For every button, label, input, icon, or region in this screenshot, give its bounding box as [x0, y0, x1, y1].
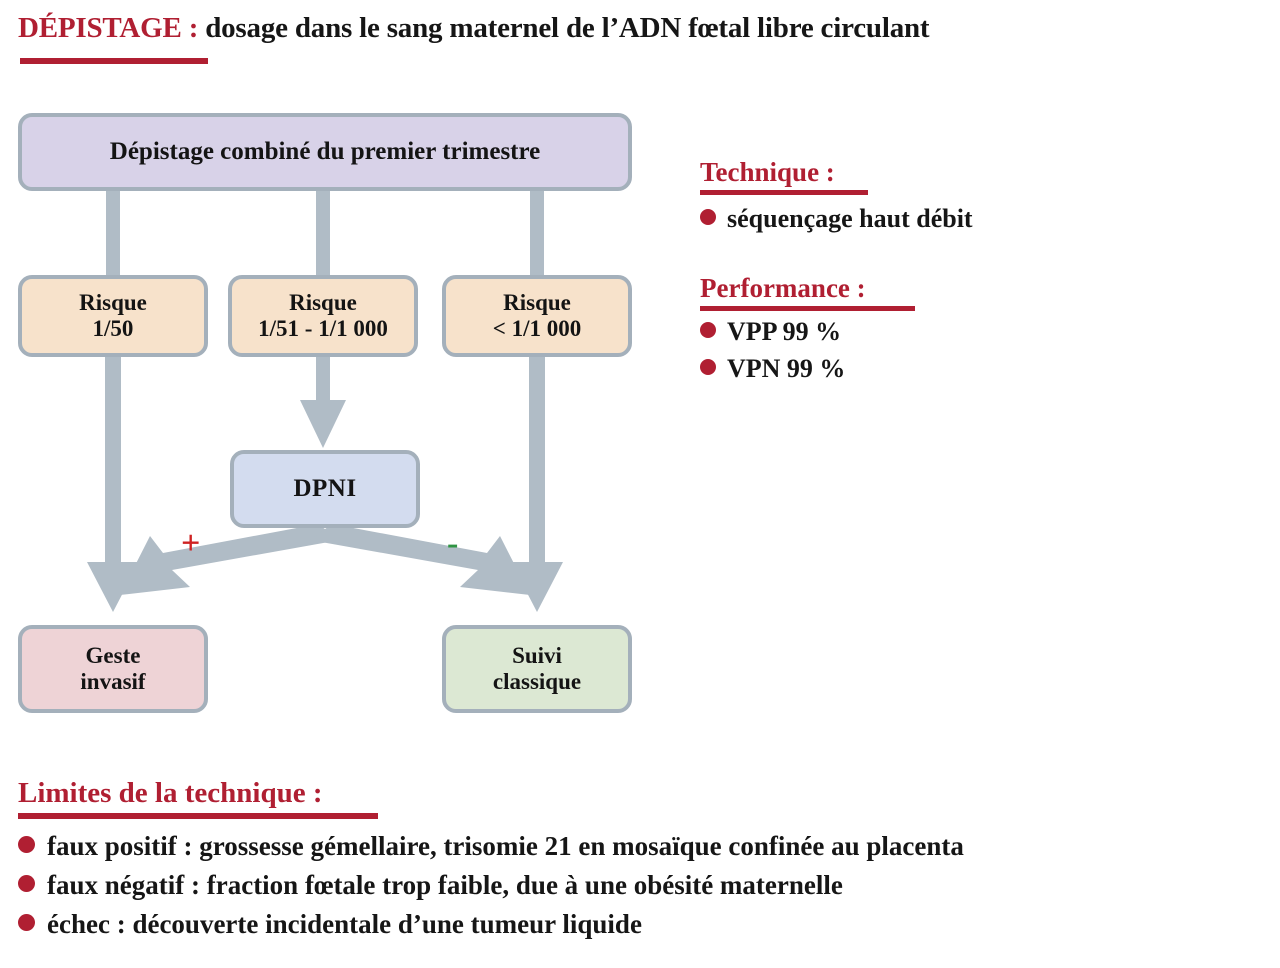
- performance-heading: Performance :: [700, 274, 1260, 304]
- bullet-dot-icon: [700, 359, 716, 375]
- node-risque-haut[interactable]: Risque 1/50: [18, 275, 208, 357]
- info-panel: Technique : séquençage haut débit Perfor…: [700, 158, 1260, 384]
- bullet-dot-icon: [700, 209, 716, 225]
- limits-heading: Limites de la technique :: [18, 778, 1268, 810]
- node-geste-invasif[interactable]: Geste invasif: [18, 625, 208, 713]
- technique-heading: Technique :: [700, 158, 1260, 188]
- limits-section: Limites de la technique : faux positif :…: [18, 778, 1268, 940]
- node-risque-bas-line1: Risque: [493, 290, 582, 316]
- negative-sign-label: -: [447, 527, 458, 561]
- limits-underline: [18, 813, 378, 819]
- node-suivi-line1: Suivi: [493, 643, 581, 669]
- list-item: échec : découverte incidentale d’une tum…: [18, 909, 1268, 941]
- connector-depistage-to-risque-haut: [106, 191, 120, 277]
- node-depistage-combine[interactable]: Dépistage combiné du premier trimestre: [18, 113, 632, 191]
- technique-item-text: séquençage haut débit: [727, 204, 973, 235]
- limits-item-echec: échec : découverte incidentale d’une tum…: [47, 909, 642, 941]
- performance-item-vpn: VPN 99 %: [727, 354, 845, 385]
- technique-list: séquençage haut débit: [700, 204, 1260, 235]
- positive-sign-label: +: [181, 527, 200, 561]
- performance-section: Performance : VPP 99 % VPN 99 %: [700, 274, 1260, 384]
- connector-depistage-to-risque-bas: [530, 191, 544, 277]
- node-risque-intermediaire[interactable]: Risque 1/51 - 1/1 000: [228, 275, 418, 357]
- node-risque-bas[interactable]: Risque < 1/1 000: [442, 275, 632, 357]
- title-underline: [20, 58, 208, 64]
- title-description: dosage dans le sang maternel de l’ADN fœ…: [198, 12, 929, 44]
- bullet-dot-icon: [700, 322, 716, 338]
- title-line: DÉPISTAGE : dosage dans le sang maternel…: [18, 12, 1258, 45]
- performance-list: VPP 99 % VPN 99 %: [700, 317, 1260, 384]
- title-keyword: DÉPISTAGE :: [18, 12, 198, 44]
- bullet-dot-icon: [18, 914, 35, 931]
- bullet-dot-icon: [18, 875, 35, 892]
- node-suivi-classique[interactable]: Suivi classique: [442, 625, 632, 713]
- limits-item-faux-negatif: faux négatif : fraction fœtale trop faib…: [47, 870, 843, 902]
- node-risque-haut-line1: Risque: [79, 290, 147, 316]
- list-item: VPP 99 %: [700, 317, 1260, 348]
- node-depistage-label: Dépistage combiné du premier trimestre: [110, 138, 540, 166]
- node-geste-line1: Geste: [80, 643, 145, 669]
- list-item: VPN 99 %: [700, 354, 1260, 385]
- node-dpni-label: DPNI: [293, 475, 356, 503]
- limits-list: faux positif : grossesse gémellaire, tri…: [18, 831, 1268, 941]
- list-item: faux positif : grossesse gémellaire, tri…: [18, 831, 1268, 863]
- flowchart: Dépistage combiné du premier trimestre R…: [0, 100, 670, 740]
- limits-item-faux-positif: faux positif : grossesse gémellaire, tri…: [47, 831, 964, 863]
- technique-section: Technique : séquençage haut débit: [700, 158, 1260, 234]
- node-dpni[interactable]: DPNI: [230, 450, 420, 528]
- technique-underline: [700, 190, 868, 195]
- arrow-risque-inter-to-dpni: [300, 357, 346, 448]
- node-risque-inter-line2: 1/51 - 1/1 000: [258, 316, 388, 342]
- performance-item-vpp: VPP 99 %: [727, 317, 841, 348]
- arrow-dpni-positive-to-geste: [120, 524, 340, 595]
- node-risque-bas-line2: < 1/1 000: [493, 316, 582, 342]
- arrow-dpni-negative-to-suivi: [310, 524, 530, 595]
- list-item: faux négatif : fraction fœtale trop faib…: [18, 870, 1268, 902]
- node-geste-line2: invasif: [80, 669, 145, 695]
- node-risque-inter-line1: Risque: [258, 290, 388, 316]
- node-risque-haut-line2: 1/50: [79, 316, 147, 342]
- performance-underline: [700, 306, 915, 311]
- bullet-dot-icon: [18, 836, 35, 853]
- page-title: DÉPISTAGE : dosage dans le sang maternel…: [18, 12, 1258, 45]
- node-suivi-line2: classique: [493, 669, 581, 695]
- connector-depistage-to-risque-inter: [316, 191, 330, 277]
- list-item: séquençage haut débit: [700, 204, 1260, 235]
